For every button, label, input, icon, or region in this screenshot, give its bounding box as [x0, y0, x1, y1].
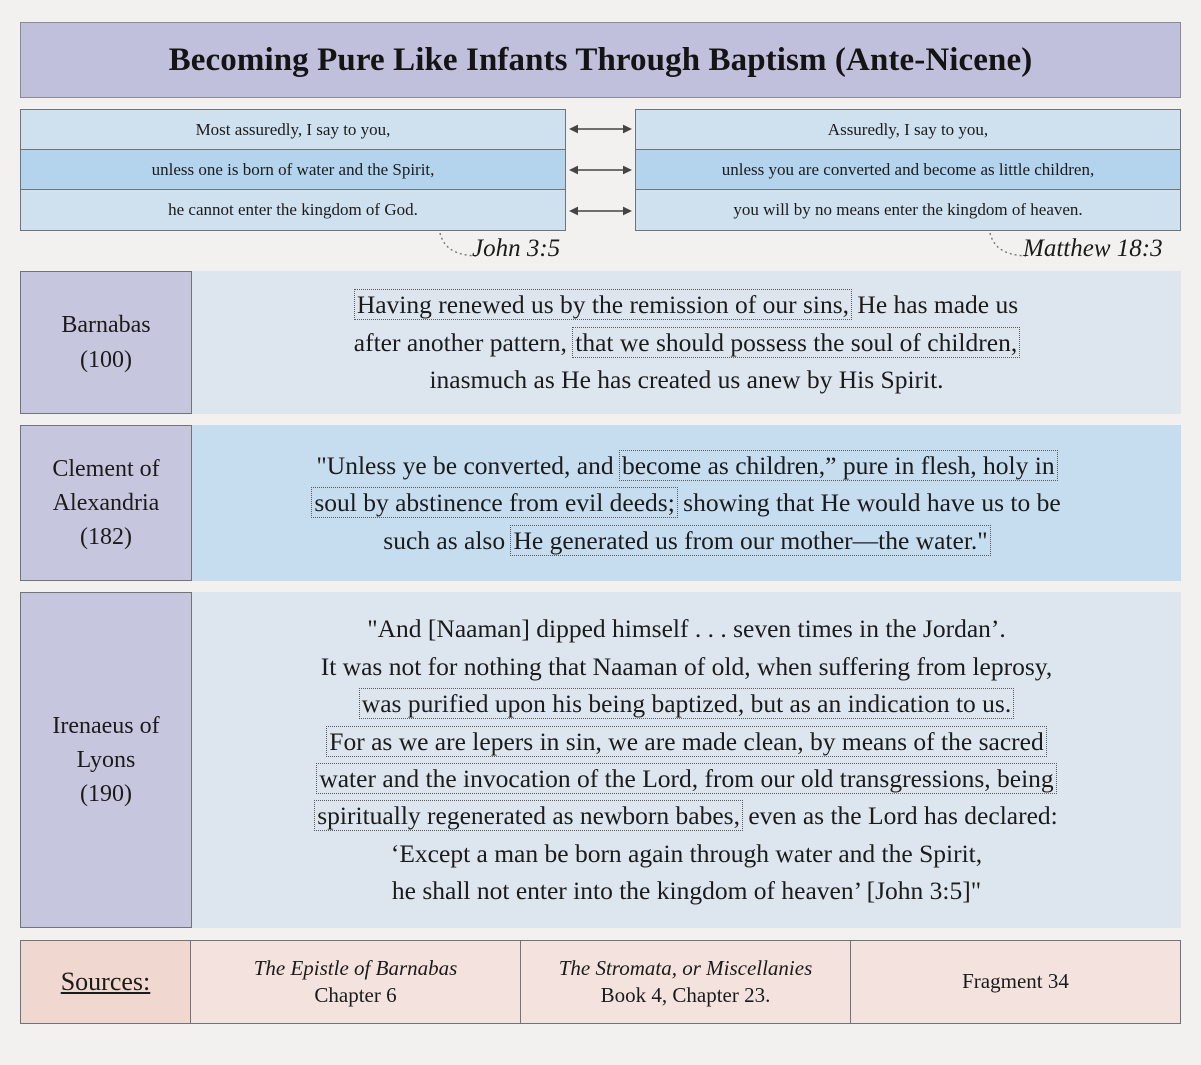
- highlighted-phrase: He generated us from our mother—the wate…: [510, 525, 990, 556]
- double-headed-arrow-icon: [569, 163, 632, 177]
- double-headed-arrow-icon: [569, 204, 632, 218]
- father-quote: "Unless ye be converted, and become as c…: [192, 425, 1181, 581]
- source-cell-irenaeus: Fragment 34: [851, 941, 1180, 1023]
- father-row-clement: Clement of Alexandria (182) "Unless ye b…: [20, 425, 1181, 581]
- verse-line: Assuredly, I say to you,: [636, 110, 1180, 150]
- quote-text: ‘Except a man be born again through wate…: [391, 839, 982, 868]
- highlighted-phrase: spiritually regenerated as newborn babes…: [314, 800, 743, 831]
- connector-row: [569, 150, 632, 190]
- scripture-comparison: Most assuredly, I say to you, unless one…: [20, 109, 1181, 231]
- father-label: Irenaeus of Lyons (190): [20, 592, 192, 928]
- sources-label: Sources:: [21, 941, 191, 1023]
- father-name: Clement of Alexandria: [52, 456, 159, 516]
- citation-leader-icon: [988, 231, 1028, 266]
- father-quote: Having renewed us by the remission of ou…: [192, 271, 1181, 414]
- father-quote-rows: Barnabas (100) Having renewed us by the …: [20, 271, 1181, 928]
- citation-matthew: Matthew 18:3: [1023, 235, 1163, 263]
- page-title-bar: Becoming Pure Like Infants Through Bapti…: [20, 22, 1181, 98]
- father-quote: "And [Naaman] dipped himself . . . seven…: [192, 592, 1181, 928]
- quote-text: It was not for nothing that Naaman of ol…: [321, 652, 1053, 681]
- father-year: (182): [80, 524, 132, 550]
- quote-text: even as the Lord has declared:: [742, 801, 1058, 830]
- connector-row: [569, 191, 632, 231]
- quote-line: "And [Naaman] dipped himself . . . seven…: [367, 610, 1006, 647]
- highlighted-phrase: that we should possess the soul of child…: [572, 327, 1020, 358]
- quote-text: He has made us: [851, 290, 1018, 319]
- quote-text: showing that He would have us to be: [677, 488, 1061, 517]
- father-label: Barnabas (100): [20, 271, 192, 414]
- quote-line: "Unless ye be converted, and become as c…: [316, 447, 1056, 484]
- quote-text: "Unless ye be converted, and: [316, 451, 620, 480]
- sources-label-text: Sources:: [61, 967, 151, 997]
- source-work: The Epistle of Barnabas: [254, 955, 458, 982]
- sources-row: Sources: The Epistle of Barnabas Chapter…: [20, 940, 1181, 1024]
- quote-line: was purified upon his being baptized, bu…: [360, 685, 1013, 722]
- quote-line: Having renewed us by the remission of ou…: [355, 286, 1018, 323]
- father-label: Clement of Alexandria (182): [20, 425, 192, 581]
- connector-row: [569, 109, 632, 149]
- father-year: (100): [80, 347, 132, 373]
- quote-line: water and the invocation of the Lord, fr…: [317, 760, 1055, 797]
- highlighted-phrase: become as children,” pure in flesh, holy…: [619, 450, 1058, 481]
- quote-line: such as also He generated us from our mo…: [383, 522, 989, 559]
- quote-line: he shall not enter into the kingdom of h…: [392, 872, 981, 909]
- verse-line: unless one is born of water and the Spir…: [21, 150, 565, 190]
- quote-text: inasmuch as He has created us anew by Hi…: [429, 365, 943, 394]
- scripture-citations: John 3:5 Matthew 18:3: [20, 231, 1181, 271]
- quote-line: For as we are lepers in sin, we are made…: [327, 723, 1045, 760]
- verse-line: he cannot enter the kingdom of God.: [21, 190, 565, 230]
- verse-line: unless you are converted and become as l…: [636, 150, 1180, 190]
- source-cell-barnabas: The Epistle of Barnabas Chapter 6: [191, 941, 521, 1023]
- father-row-irenaeus: Irenaeus of Lyons (190) "And [Naaman] di…: [20, 592, 1181, 928]
- quote-text: after another pattern,: [354, 328, 573, 357]
- quote-line: inasmuch as He has created us anew by Hi…: [429, 361, 943, 398]
- highlighted-phrase: was purified upon his being baptized, bu…: [359, 688, 1014, 719]
- quote-text: he shall not enter into the kingdom of h…: [392, 876, 981, 905]
- highlighted-phrase: Having renewed us by the remission of ou…: [354, 289, 852, 320]
- quote-line: spiritually regenerated as newborn babes…: [315, 797, 1058, 834]
- infographic-page: Becoming Pure Like Infants Through Bapti…: [0, 0, 1201, 1065]
- source-location: Chapter 6: [314, 982, 396, 1009]
- quote-line: It was not for nothing that Naaman of ol…: [321, 648, 1053, 685]
- verse-panel-john: Most assuredly, I say to you, unless one…: [20, 109, 566, 231]
- verse-line: you will by no means enter the kingdom o…: [636, 190, 1180, 230]
- quote-text: such as also: [383, 526, 511, 555]
- source-location: Fragment 34: [962, 968, 1069, 995]
- page-title: Becoming Pure Like Infants Through Bapti…: [169, 42, 1033, 79]
- quote-line: after another pattern, that we should po…: [354, 324, 1019, 361]
- verse-line: Most assuredly, I say to you,: [21, 110, 565, 150]
- double-headed-arrow-icon: [569, 122, 632, 136]
- verse-panel-matthew: Assuredly, I say to you, unless you are …: [635, 109, 1181, 231]
- source-cell-clement: The Stromata, or Miscellanies Book 4, Ch…: [521, 941, 851, 1023]
- quote-line: soul by abstinence from evil deeds; show…: [312, 484, 1060, 521]
- highlighted-phrase: soul by abstinence from evil deeds;: [311, 487, 677, 518]
- source-location: Book 4, Chapter 23.: [601, 982, 771, 1009]
- source-work: The Stromata, or Miscellanies: [559, 955, 813, 982]
- highlighted-phrase: water and the invocation of the Lord, fr…: [316, 763, 1056, 794]
- father-year: (190): [80, 781, 132, 807]
- verse-connectors: [566, 109, 635, 231]
- father-name: Irenaeus of Lyons: [52, 713, 159, 773]
- highlighted-phrase: For as we are lepers in sin, we are made…: [326, 726, 1046, 757]
- father-row-barnabas: Barnabas (100) Having renewed us by the …: [20, 271, 1181, 414]
- quote-text: "And [Naaman] dipped himself . . . seven…: [367, 614, 1006, 643]
- quote-line: ‘Except a man be born again through wate…: [391, 835, 982, 872]
- citation-john: John 3:5: [472, 235, 560, 263]
- father-name: Barnabas: [61, 312, 150, 338]
